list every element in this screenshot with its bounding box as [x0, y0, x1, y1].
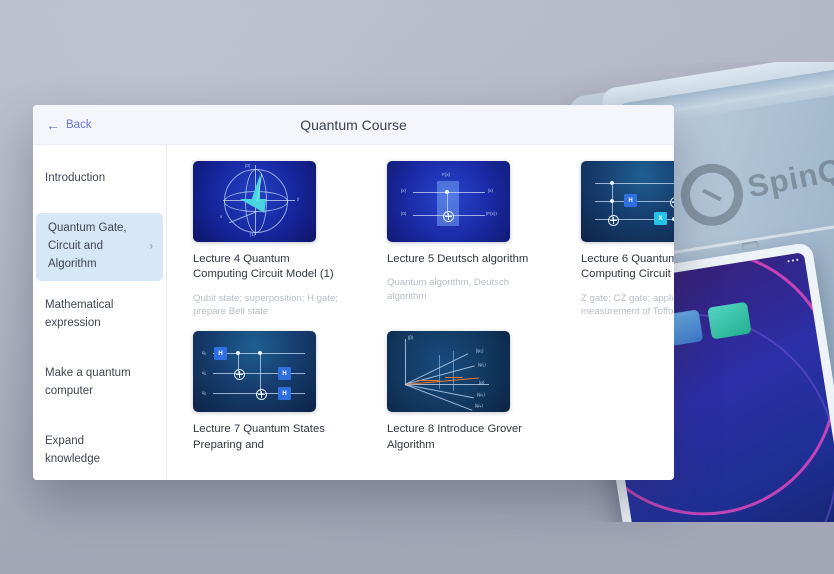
course-card-description: Quantum algorithm, Deutsch algorithm: [387, 276, 541, 304]
x-gate: X: [654, 212, 667, 225]
course-card-title: Lecture 4 Quantum Computing Circuit Mode…: [193, 252, 347, 283]
quantum-course-window: ← Back Quantum Course Introduction Quant…: [33, 105, 674, 480]
window-body: Introduction Quantum Gate, Circuit and A…: [33, 145, 674, 480]
sidebar-item-label: Introduction: [45, 170, 105, 188]
output-label-top: |x⟩: [488, 188, 493, 194]
cnot-target-icon: [256, 389, 267, 400]
sidebar-item-label: Quantum Gate, Circuit and Algorithm: [48, 220, 140, 273]
bloch-label-x: x: [220, 214, 222, 219]
grover-projection-line-2: [453, 351, 454, 391]
toffoli-circuit-thumbnail: H X: [581, 161, 674, 242]
tablet-app-tile: [707, 302, 752, 340]
h-gate: H: [214, 347, 227, 360]
sidebar-item-expand-knowledge[interactable]: Expand knowledge: [33, 417, 166, 480]
bloch-label-y: y: [297, 196, 299, 201]
cnot-link-2: [260, 353, 261, 393]
course-card-lecture-6[interactable]: H X Lecture 6 Quantum Computing Circuit …: [581, 161, 674, 319]
grover-label-v2: |ψ₂⟩: [478, 362, 486, 368]
back-button-label: Back: [66, 119, 92, 131]
control-dot: [236, 351, 240, 355]
course-card-title: Lecture 7 Quantum States Preparing and: [193, 422, 347, 453]
chevron-right-icon: ›: [149, 238, 153, 255]
cnot-target-icon: [234, 369, 245, 380]
input-label-bottom: |0⟩: [401, 211, 407, 217]
course-card-lecture-7[interactable]: q₀ q₁ q₂ H H H Lecture 7 Quantum States: [193, 331, 347, 462]
grover-arc-marker-1: [417, 380, 439, 381]
cnot-target-icon: [608, 215, 619, 226]
qubit-label-q0: q₀: [202, 350, 206, 355]
qubit-wire-q0: [595, 183, 674, 184]
bloch-label-ket1: |1⟩: [250, 232, 256, 238]
page-title: Quantum Course: [33, 117, 674, 133]
ghz-circuit-thumbnail: q₀ q₁ q₂ H H H: [193, 331, 316, 412]
course-card-lecture-5[interactable]: F(x) |x⟩ |0⟩ |x⟩ |F(x)⟩ Lecture 5 Deutsc…: [387, 161, 541, 319]
bloch-sphere-thumbnail: |0⟩ |1⟩ y x: [193, 161, 316, 242]
back-button[interactable]: ← Back: [46, 118, 92, 132]
sidebar-item-mathematical-expression[interactable]: Mathematical expression: [33, 281, 166, 349]
grover-projection-line-1: [439, 355, 440, 389]
qubit-label-q2: q₂: [202, 390, 206, 395]
cnot-target-icon: [443, 211, 454, 222]
spinq-wordmark: SpinQ: [745, 152, 834, 206]
grover-label-v4: |ψ₄⟩: [475, 403, 483, 409]
qubit-wire-q1: [213, 373, 305, 374]
h-gate: H: [278, 387, 291, 400]
control-dot: [445, 190, 449, 194]
sidebar-item-quantum-gate-circuit-and-algorithm[interactable]: Quantum Gate, Circuit and Algorithm ›: [36, 213, 163, 281]
sidebar: Introduction Quantum Gate, Circuit and A…: [33, 145, 167, 480]
course-card-description: Qubit state; superposition; H gate; prep…: [193, 292, 347, 320]
course-card-title: Lecture 8 Introduce Grover Algorithm: [387, 422, 541, 453]
bloch-label-ket0: |0⟩: [245, 163, 251, 169]
grover-label-v1: |ψ₁⟩: [476, 348, 484, 354]
sidebar-item-introduction[interactable]: Introduction: [33, 145, 166, 213]
cnot-target-icon: [670, 197, 674, 208]
course-card-description: Z gate; CZ gate; application and measure…: [581, 292, 674, 320]
grover-axis-label: |β⟩: [408, 335, 414, 341]
grover-geometry-thumbnail: |β⟩ |ψ₁⟩ |ψ₂⟩ |α⟩ |ψ₃⟩: [387, 331, 510, 412]
grover-horizontal-axis: [405, 384, 489, 385]
grover-arc-marker-2: [445, 377, 463, 378]
control-dot: [610, 181, 614, 185]
grover-label-v5: |α⟩: [479, 380, 485, 386]
output-label-bottom: |F(x)⟩: [486, 211, 497, 217]
control-dot: [610, 199, 614, 203]
arrow-left-icon: ←: [46, 118, 60, 132]
sidebar-item-label: Expand knowledge: [45, 433, 137, 469]
course-card-grid: |0⟩ |1⟩ y x Lecture 4 Quantum Computing …: [193, 161, 656, 462]
control-dot: [258, 351, 262, 355]
h-gate: H: [624, 194, 637, 207]
course-card-title: Lecture 5 Deutsch algorithm: [387, 252, 541, 267]
qubit-wire-top: [413, 192, 485, 193]
course-content-area: |0⟩ |1⟩ y x Lecture 4 Quantum Computing …: [167, 145, 674, 480]
h-gate: H: [278, 367, 291, 380]
input-label-top: |x⟩: [401, 188, 406, 194]
sidebar-item-make-a-quantum-computer[interactable]: Make a quantum computer: [33, 349, 166, 417]
window-titlebar: ← Back Quantum Course: [33, 105, 674, 145]
course-card-lecture-8[interactable]: |β⟩ |ψ₁⟩ |ψ₂⟩ |α⟩ |ψ₃⟩: [387, 331, 541, 462]
qubit-label-q1: q₁: [202, 370, 206, 375]
spinq-ring-icon: [676, 158, 749, 231]
course-card-lecture-4[interactable]: |0⟩ |1⟩ y x Lecture 4 Quantum Computing …: [193, 161, 347, 319]
control-dot: [672, 217, 674, 221]
oracle-label: F(x): [442, 172, 450, 177]
course-card-title: Lecture 6 Quantum Computing Circuit Mode…: [581, 252, 674, 283]
deutsch-circuit-thumbnail: F(x) |x⟩ |0⟩ |x⟩ |F(x)⟩: [387, 161, 510, 242]
tablet-status-icons: ● ● ●: [787, 257, 800, 265]
grover-vertical-axis: [405, 339, 406, 385]
sidebar-item-label: Mathematical expression: [45, 297, 137, 333]
sidebar-item-label: Make a quantum computer: [45, 365, 137, 401]
grover-label-v3: |ψ₃⟩: [477, 392, 485, 398]
